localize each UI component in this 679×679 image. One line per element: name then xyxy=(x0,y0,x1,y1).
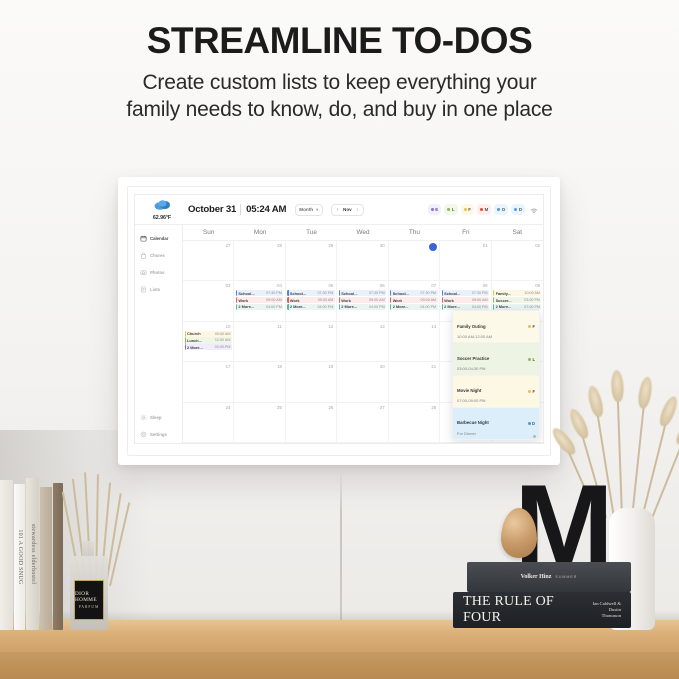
agenda-item-title: Movie Night xyxy=(457,388,481,393)
calendar-event[interactable]: 2 More...07:00 PM xyxy=(493,304,541,310)
day-header-thu: Thu xyxy=(389,225,440,240)
day-number: 29 xyxy=(287,243,335,249)
sleep-icon xyxy=(140,414,147,421)
calendar-day-cell[interactable]: 26 xyxy=(286,403,337,442)
calendar-event[interactable]: Family...10:00 AM xyxy=(493,290,541,296)
event-title: Soccer... xyxy=(496,298,512,303)
calendar-week-row: 272829300102 xyxy=(183,241,543,281)
console-table-front xyxy=(0,652,679,679)
legend-chip-f-2[interactable]: F xyxy=(461,204,474,215)
calendar-day-cell[interactable]: 10Church09:00 AMLunch...12:00 AM2 More..… xyxy=(183,322,234,361)
current-date: October 31 xyxy=(188,204,240,215)
event-time: 04:00 PM xyxy=(420,305,436,309)
event-time: 03:00 PM xyxy=(215,345,231,349)
event-title: Work xyxy=(238,298,248,303)
calendar-day-cell[interactable]: 06School...07:30 PMWork09:00 AM2 More...… xyxy=(337,281,388,320)
calendar-event[interactable]: School...07:30 PM xyxy=(236,290,283,296)
calendar-day-cell[interactable]: 24 xyxy=(183,403,234,442)
diffuser-bottle: DIOR HOMME PARFUM xyxy=(70,556,108,630)
sidebar-item-label: Chores xyxy=(150,253,165,258)
day-number: 06 xyxy=(338,283,386,289)
calendar-day-cell[interactable]: 04School...07:30 PMWork09:00 AM2 More...… xyxy=(234,281,285,320)
calendar-event[interactable]: Work09:00 AM xyxy=(287,297,334,303)
calendar-day-cell[interactable]: 02 xyxy=(492,241,543,280)
sidebar-item-chores[interactable]: Chores xyxy=(135,247,182,264)
agenda-item-tag: L xyxy=(528,357,535,362)
calendar-day-cell[interactable]: 05School...07:30 PMWork09:00 AM2 More...… xyxy=(286,281,337,320)
calendar-event[interactable]: School...07:30 PM xyxy=(287,290,334,296)
calendar-day-cell[interactable]: 14 xyxy=(389,322,440,361)
weather-widget[interactable]: 62.96°F xyxy=(138,198,186,221)
pampas-stalk xyxy=(651,436,679,518)
event-time: 03:00 PM xyxy=(524,298,540,302)
day-number: 09 xyxy=(493,283,542,289)
calendar-event[interactable]: Work09:00 AM xyxy=(390,297,437,303)
legend-dot-icon xyxy=(464,208,467,211)
event-time: 07:30 PM xyxy=(420,291,436,295)
event-title: 2 More... xyxy=(341,304,357,309)
calendar-day-cell[interactable]: 19 xyxy=(286,362,337,401)
headline-title: STREAMLINE TO-DOS xyxy=(0,22,679,61)
calendar-event[interactable]: 2 More...04:00 PM xyxy=(236,304,283,310)
day-number: 12 xyxy=(287,324,335,330)
legend-dot-icon xyxy=(447,208,450,211)
day-number: 26 xyxy=(287,405,335,411)
sidebar-item-settings[interactable]: Settings xyxy=(135,426,182,443)
event-time: 07:30 PM xyxy=(266,291,282,295)
calendar-day-cell[interactable]: 20 xyxy=(337,362,388,401)
legend-dot-icon xyxy=(431,208,434,211)
headline-subtitle-line1: Create custom lists to keep everything y… xyxy=(0,70,679,97)
agenda-item-tag: F xyxy=(528,324,535,329)
book-spine xyxy=(0,480,13,630)
day-header-mon: Mon xyxy=(234,225,285,240)
legend-chip-label: F xyxy=(468,207,471,212)
calendar-event[interactable]: Church09:00 AM xyxy=(185,331,232,337)
pampas-plume xyxy=(673,414,679,447)
day-header-sun: Sun xyxy=(183,225,234,240)
legend-chip-label: M xyxy=(485,207,489,212)
stacked-book-bottom: THE RULE OF FOUR Ian Caldwell & Dustin T… xyxy=(453,592,631,628)
chevron-right-icon[interactable]: › xyxy=(355,207,360,213)
event-title: Church xyxy=(187,331,201,336)
legend-chip-label: D xyxy=(519,207,522,212)
event-title: School... xyxy=(444,291,460,296)
day-header-sat: Sat xyxy=(492,225,543,240)
calendar-icon xyxy=(140,235,147,242)
month-nav-label: Nov xyxy=(343,207,352,212)
event-time: 09:00 AM xyxy=(266,298,282,302)
agenda-item[interactable]: Family Outing10:00 AM-12:00 AMF xyxy=(453,311,539,343)
legend-dot-icon xyxy=(497,208,500,211)
chores-icon xyxy=(140,252,147,259)
calendar-event[interactable]: Work09:00 AM xyxy=(339,297,386,303)
event-title: Work xyxy=(393,298,403,303)
event-title: School... xyxy=(341,291,357,296)
event-title: Family... xyxy=(496,291,511,296)
legend-chip-m-3[interactable]: M xyxy=(477,204,491,215)
event-title: 2 More... xyxy=(187,345,203,350)
current-time: 05:24 AM xyxy=(240,204,286,215)
chevron-down-icon: ▼ xyxy=(315,207,319,212)
event-time: 07:30 PM xyxy=(369,291,385,295)
sidebar-spacer xyxy=(135,298,182,409)
calendar-event[interactable]: Work09:00 AM xyxy=(442,297,489,303)
calendar-event[interactable]: Soccer...03:00 PM xyxy=(493,297,541,303)
event-time: 09:00 AM xyxy=(369,298,385,302)
day-number: 10 xyxy=(184,324,232,330)
right-decor-group: M Volker Hinz SUMMER THE RULE OF FOUR Ia… xyxy=(429,420,679,630)
calendar-day-cell[interactable]: 03 xyxy=(183,281,234,320)
day-number: 04 xyxy=(235,283,283,289)
day-number: 07 xyxy=(390,283,438,289)
day-number: 05 xyxy=(287,283,335,289)
calendar-day-cell[interactable] xyxy=(389,241,440,280)
sidebar-item-label: Sleep xyxy=(150,415,161,420)
agenda-item-tag: F xyxy=(528,389,535,394)
app-topbar: 62.96°F October 31 05:24 AM Month ▼ ‹ No… xyxy=(135,195,543,225)
event-title: 2 More... xyxy=(290,304,306,309)
agenda-item-subtitle: 03:00-04:30 PM xyxy=(457,366,489,371)
event-time: 12:00 AM xyxy=(215,338,231,342)
reed-diffuser: DIOR HOMME PARFUM xyxy=(62,498,114,630)
day-number-today xyxy=(429,243,437,251)
stacked-book-top: Volker Hinz SUMMER xyxy=(467,562,631,592)
day-number: 18 xyxy=(235,364,283,370)
day-number: 27 xyxy=(338,405,386,411)
pampas-plume xyxy=(549,425,578,458)
pampas-stalk xyxy=(617,392,623,518)
pampas-plume xyxy=(567,407,592,441)
day-number: 11 xyxy=(235,324,283,330)
agenda-item[interactable]: Soccer Practice03:00-04:30 PML xyxy=(453,343,539,375)
event-title: 2 More... xyxy=(393,304,409,309)
settings-icon xyxy=(140,431,147,438)
day-number: 08 xyxy=(441,283,489,289)
day-number: 13 xyxy=(338,324,386,330)
event-time: 07:30 PM xyxy=(472,291,488,295)
day-number: 21 xyxy=(390,364,438,370)
right-book-stack: Volker Hinz SUMMER THE RULE OF FOUR Ian … xyxy=(453,556,635,630)
calendar-day-cell[interactable]: 21 xyxy=(389,362,440,401)
stacked-book-top-subtitle: SUMMER xyxy=(555,575,577,579)
legend-chip-label: D xyxy=(502,207,505,212)
sidebar-item-label: Photos xyxy=(150,270,165,275)
book-spine-title: stewardess elderhostel xyxy=(30,524,36,584)
day-number: 27 xyxy=(184,243,232,249)
event-title: 2 More... xyxy=(496,304,512,309)
calendar-event[interactable]: 2 More...04:00 PM xyxy=(442,304,489,310)
agenda-texts: Family Outing10:00 AM-12:00 AM xyxy=(457,315,492,339)
day-header-tue: Tue xyxy=(286,225,337,240)
event-title: 2 More... xyxy=(444,304,460,309)
diffuser-label: DIOR HOMME PARFUM xyxy=(74,580,104,620)
agenda-item-subtitle: 10:00 AM-12:00 AM xyxy=(457,334,492,339)
calendar-event[interactable]: School...07:30 PM xyxy=(390,290,437,296)
sidebar-item-label: Settings xyxy=(150,432,167,437)
day-number: 17 xyxy=(184,364,232,370)
legend-chip-label: L xyxy=(452,207,455,212)
calendar-day-cell[interactable]: 27 xyxy=(337,403,388,442)
day-number: 20 xyxy=(338,364,386,370)
legend-chip-d-5[interactable]: D xyxy=(511,204,525,215)
room-scene: STREAMLINE TO-DOS Create custom lists to… xyxy=(0,0,679,679)
calendar-day-cell[interactable]: 27 xyxy=(183,241,234,280)
lists-icon xyxy=(140,286,147,293)
calendar-event[interactable]: 2 More...04:00 PM xyxy=(339,304,386,310)
view-selector-label: Month xyxy=(299,207,313,212)
diffuser-brand: DIOR HOMME xyxy=(75,591,103,603)
agenda-item-subtitle: 07:00-09:00 PM xyxy=(457,398,485,403)
pampas-plume xyxy=(586,384,606,418)
event-title: School... xyxy=(238,291,254,296)
event-time: 04:00 PM xyxy=(472,305,488,309)
event-time: 04:00 PM xyxy=(317,305,333,309)
calendar-day-cell[interactable]: 30 xyxy=(337,241,388,280)
event-title: School... xyxy=(290,291,306,296)
calendar-day-cell[interactable]: 25 xyxy=(234,403,285,442)
event-time: 09:00 AM xyxy=(472,298,488,302)
calendar-app-screen[interactable]: 62.96°F October 31 05:24 AM Month ▼ ‹ No… xyxy=(134,194,544,444)
calendar-event[interactable]: School...07:30 PM xyxy=(339,290,386,296)
day-number: 19 xyxy=(287,364,335,370)
event-time: 04:00 PM xyxy=(266,305,282,309)
photos-icon xyxy=(140,269,147,276)
calendar-day-cell[interactable]: 01 xyxy=(440,241,491,280)
day-number: 02 xyxy=(493,243,542,249)
day-header-fri: Fri xyxy=(440,225,491,240)
calendar-event[interactable]: 2 More...04:00 PM xyxy=(287,304,334,310)
view-selector[interactable]: Month ▼ xyxy=(295,204,323,216)
calendar-day-cell[interactable]: 18 xyxy=(234,362,285,401)
wifi-icon[interactable] xyxy=(530,201,538,219)
calendar-day-cell[interactable]: 17 xyxy=(183,362,234,401)
event-time: 07:00 PM xyxy=(524,305,540,309)
event-time: 04:00 PM xyxy=(369,305,385,309)
chevron-left-icon[interactable]: ‹ xyxy=(335,207,340,213)
sidebar-item-sleep[interactable]: Sleep xyxy=(135,409,182,426)
sidebar-item-lists[interactable]: Lists xyxy=(135,281,182,298)
legend-chip-l-1[interactable]: L xyxy=(444,204,457,215)
agenda-texts: Movie Night07:00-09:00 PM xyxy=(457,379,485,403)
event-time: 10:00 AM xyxy=(524,291,540,295)
stacked-book-top-title: Volker Hinz xyxy=(521,574,552,580)
calendar-area: SunMonTueWedThuFriSat 2728293001020304Sc… xyxy=(183,225,543,443)
stacked-book-authors: Ian Caldwell & Dustin Thomason xyxy=(590,601,621,618)
marketing-headline-block: STREAMLINE TO-DOS Create custom lists to… xyxy=(0,22,679,124)
sidebar-item-photos[interactable]: Photos xyxy=(135,264,182,281)
pampas-stalk xyxy=(641,417,668,518)
sidebar-item-label: Lists xyxy=(150,287,160,292)
app-sidebar[interactable]: CalendarChoresPhotosListsSleepSettings xyxy=(135,225,183,443)
legend-chip-label: E xyxy=(435,207,438,212)
calendar-day-cell[interactable]: 11 xyxy=(234,322,285,361)
book-spine-title: 101 A GOOD SNUG xyxy=(17,529,23,584)
author-line-2: Dustin Thomason xyxy=(602,607,621,618)
calendar-event[interactable]: School...07:30 PM xyxy=(442,290,489,296)
calendar-event[interactable]: Lunch...12:00 AM xyxy=(185,337,232,343)
calendar-day-cell[interactable]: 12 xyxy=(286,322,337,361)
event-title: 2 More... xyxy=(238,304,254,309)
book-spine: 101 A GOOD SNUG xyxy=(14,484,25,630)
agenda-item[interactable]: Movie Night07:00-09:00 PMF xyxy=(453,376,539,408)
app-body: CalendarChoresPhotosListsSleepSettings S… xyxy=(135,225,543,443)
day-number: 24 xyxy=(184,405,232,411)
event-time: 09:00 AM xyxy=(215,332,231,336)
calendar-day-cell[interactable]: 29 xyxy=(286,241,337,280)
calendar-day-cell[interactable]: 28 xyxy=(234,241,285,280)
day-number: 25 xyxy=(235,405,283,411)
month-navigator[interactable]: ‹ Nov › xyxy=(331,204,364,216)
calendar-day-cell[interactable]: 13 xyxy=(337,322,388,361)
legend-dot-icon xyxy=(480,208,483,211)
event-time: 07:30 PM xyxy=(317,291,333,295)
book-spine xyxy=(40,487,52,630)
agenda-item-title: Family Outing xyxy=(457,324,486,329)
pampas-stalk xyxy=(631,399,645,519)
legend-dot-icon xyxy=(514,208,517,211)
legend-chip-d-4[interactable]: D xyxy=(494,204,508,215)
day-number: 30 xyxy=(338,243,386,249)
event-title: School... xyxy=(393,291,409,296)
agenda-tag-dot-icon xyxy=(528,390,531,393)
calendar-day-cell[interactable]: 07School...07:30 PMWork09:00 AM2 More...… xyxy=(389,281,440,320)
author-line-1: Ian Caldwell & xyxy=(593,601,621,606)
day-of-week-header: SunMonTueWedThuFriSat xyxy=(183,225,543,241)
legend-chip-e-0[interactable]: E xyxy=(428,204,442,215)
headline-subtitle-line2: family needs to know, do, and buy in one… xyxy=(0,97,679,124)
event-title: Work xyxy=(444,298,454,303)
sidebar-item-calendar[interactable]: Calendar xyxy=(135,230,182,247)
sidebar-item-label: Calendar xyxy=(150,236,168,241)
agenda-texts: Soccer Practice03:00-04:30 PM xyxy=(457,347,489,371)
agenda-item-title: Soccer Practice xyxy=(457,356,489,361)
day-number: 03 xyxy=(184,283,232,289)
agenda-tag-dot-icon xyxy=(528,325,531,328)
day-number: 01 xyxy=(441,243,489,249)
day-header-wed: Wed xyxy=(337,225,388,240)
event-time: 09:00 AM xyxy=(421,298,437,302)
calendar-event[interactable]: Work09:00 AM xyxy=(236,297,283,303)
event-title: Work xyxy=(341,298,351,303)
day-number: 28 xyxy=(235,243,283,249)
calendar-event[interactable]: 2 More...04:00 PM xyxy=(390,304,437,310)
cloud-icon xyxy=(154,198,171,214)
book-spine: stewardess elderhostel xyxy=(26,478,39,630)
diffuser-subtitle: PARFUM xyxy=(79,605,99,609)
stacked-book-bottom-title: THE RULE OF FOUR xyxy=(463,594,590,626)
calendar-event[interactable]: 2 More...03:00 PM xyxy=(185,344,232,350)
event-time: 09:00 AM xyxy=(318,298,334,302)
day-number: 14 xyxy=(390,324,438,330)
event-title: Work xyxy=(290,298,300,303)
agenda-tag-dot-icon xyxy=(528,358,531,361)
calendar-legend: ELFMDD xyxy=(428,201,543,219)
temperature-value: 62.96°F xyxy=(153,215,171,221)
event-title: Lunch... xyxy=(187,338,202,343)
day-number: 28 xyxy=(390,405,438,411)
